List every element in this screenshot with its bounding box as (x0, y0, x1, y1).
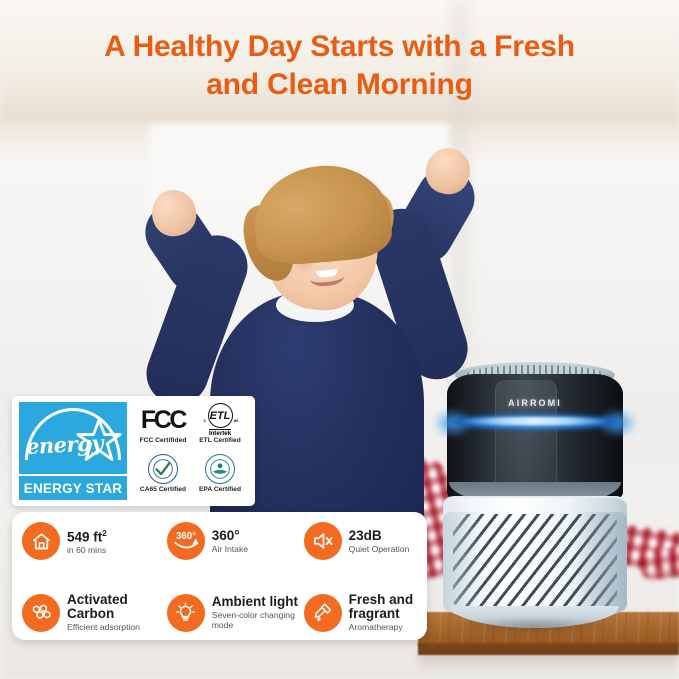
energy-star-mark: energy (19, 402, 127, 474)
feature-activated-carbon-title: Activated Carbon (67, 593, 167, 621)
badge-epa-caption: EPA Certified (199, 486, 241, 493)
table-edge (418, 643, 679, 655)
purifier-body-shading (443, 512, 627, 612)
checkmark-icon (152, 458, 174, 480)
epa-leaf-icon (209, 458, 231, 480)
speaker-mute-icon (304, 522, 342, 560)
svg-text:360°: 360° (176, 531, 196, 542)
ca65-seal (148, 454, 178, 484)
feature-coverage-title: 549 ft2 (67, 527, 107, 545)
badge-ca65: CA65 Certified (135, 453, 191, 501)
product-marketing-image: AIRROMI A Healthy Day Starts with a Fres… (0, 0, 679, 679)
purifier-contact-shadow (455, 618, 615, 634)
epa-icon (205, 453, 235, 485)
feature-aromatherapy: Fresh and fragrant Aromatherapy (304, 593, 421, 632)
feature-row-2: Activated Carbon Efficient adsorption Am (22, 593, 421, 632)
feature-ambient-light: Ambient light Seven-color changing mode (167, 593, 304, 632)
feature-highlights-card: 549 ft2 in 60 mins 360° 360° Air Intake (12, 512, 427, 640)
headline-line-1: A Healthy Day Starts with a Fresh (104, 30, 575, 63)
intertek-label: Intertek (209, 429, 231, 438)
ca65-icon (148, 453, 178, 485)
energy-star-band: ENERGY STAR (19, 476, 127, 500)
page-title: A Healthy Day Starts with a Fresh and Cl… (0, 28, 679, 104)
feature-air-intake: 360° 360° Air Intake (167, 522, 304, 560)
epa-seal (205, 454, 235, 484)
led-ring-highlight (461, 417, 609, 425)
purifier-facet (495, 380, 557, 492)
feature-air-intake-title: 360° (212, 529, 248, 543)
lightbulb-icon (167, 594, 205, 632)
feature-row-1: 549 ft2 in 60 mins 360° 360° Air Intake (22, 522, 421, 560)
etl-mark: ETL (210, 410, 231, 422)
feature-noise-sub: Quiet Operation (349, 544, 410, 554)
fcc-mark: FCC (141, 408, 185, 433)
honeycomb-icon (22, 594, 60, 632)
brand-logo: AIRROMI (437, 398, 633, 408)
etl-icon: c ETL us Intertek (208, 404, 233, 436)
air-purifier-product: AIRROMI (437, 362, 633, 630)
home-icon (22, 522, 60, 560)
star-icon (76, 418, 122, 464)
feature-aromatherapy-title: Fresh and fragrant (349, 593, 421, 621)
feature-activated-carbon-sub: Efficient adsorption (67, 622, 167, 632)
feature-ambient-light-sub: Seven-color changing mode (212, 610, 304, 630)
fcc-icon: FCC (141, 404, 185, 436)
feature-coverage-sub: in 60 mins (67, 545, 107, 555)
etl-circle: c ETL us (208, 403, 233, 428)
dropper-icon (304, 594, 342, 632)
headline-line-2: and Clean Morning (0, 66, 679, 104)
certification-panel: energy ENERGY STAR FCC FCC Certifided (12, 396, 255, 506)
feature-noise: 23dB Quiet Operation (304, 522, 421, 560)
rotation-360-icon: 360° (167, 522, 205, 560)
feature-activated-carbon: Activated Carbon Efficient adsorption (22, 593, 167, 632)
certification-badges: FCC FCC Certifided c ETL us Intertek ETL (135, 402, 248, 500)
badge-ca65-caption: CA65 Certified (140, 486, 186, 493)
badge-fcc-caption: FCC Certifided (140, 437, 187, 444)
feature-air-intake-sub: Air Intake (212, 544, 248, 554)
feature-ambient-light-title: Ambient light (212, 595, 304, 609)
badge-etl: c ETL us Intertek ETL Certified (192, 404, 248, 452)
feature-coverage: 549 ft2 in 60 mins (22, 522, 167, 560)
badge-epa: EPA Certified (192, 453, 248, 501)
etl-right-mark: us (234, 418, 239, 423)
feature-aromatherapy-sub: Aromatherapy (349, 622, 421, 632)
feature-noise-title: 23dB (349, 529, 410, 543)
boy-hair (250, 160, 394, 267)
energy-star-band-label: ENERGY STAR (24, 481, 122, 496)
etl-left-mark: c (204, 418, 206, 423)
badge-etl-caption: ETL Certified (199, 437, 241, 444)
energy-star-logo: energy ENERGY STAR (19, 402, 127, 500)
badge-fcc: FCC FCC Certifided (135, 404, 191, 452)
